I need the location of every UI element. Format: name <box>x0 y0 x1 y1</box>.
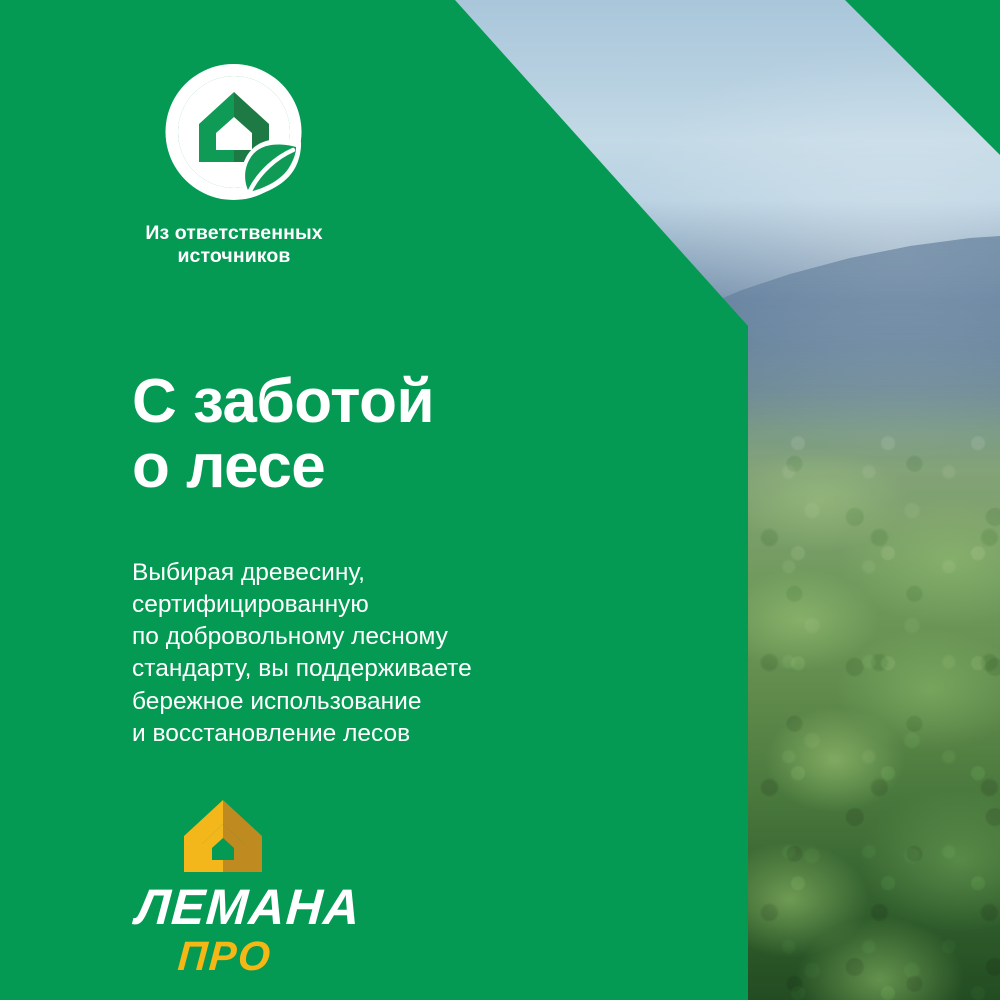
certification-caption: Из ответственных источников <box>128 222 340 267</box>
body-paragraph: Выбирая древесину, сертифицированную по … <box>132 557 732 751</box>
certification-badge: Из ответственных источников <box>128 58 340 267</box>
brand-name: ЛЕМАНА <box>134 884 362 931</box>
brand-sub: ПРО <box>177 936 363 977</box>
brand-lockup: ЛЕМАНА ПРО <box>136 798 361 977</box>
lemana-house-icon <box>182 798 264 874</box>
poster-root: Из ответственных источников С заботой о … <box>0 0 1000 1000</box>
circle-house-leaf-icon <box>160 58 308 206</box>
page-title: С заботой о лесе <box>132 369 692 500</box>
